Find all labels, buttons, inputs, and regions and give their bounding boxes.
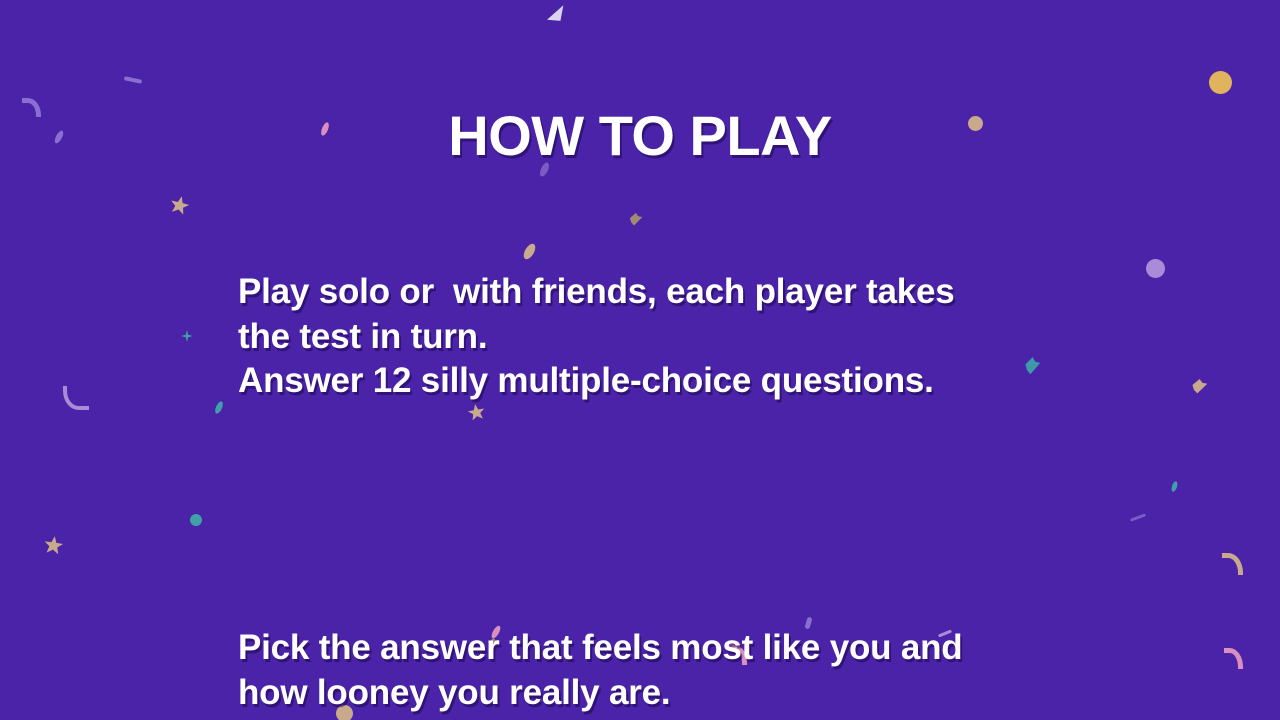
instructions-paragraph-1: Play solo or with friends, each player t…: [238, 270, 1058, 404]
page-title: HOW TO PLAY: [0, 108, 1280, 164]
instructions-paragraph-2: Pick the answer that feels most like you…: [238, 626, 1058, 720]
how-to-play-screen: HOW TO PLAY Play solo or with friends, e…: [0, 0, 1280, 720]
content-area: HOW TO PLAY Play solo or with friends, e…: [0, 0, 1280, 720]
instructions-block: Play solo or with friends, each player t…: [238, 181, 1058, 720]
paragraph-spacer: [238, 493, 1058, 538]
